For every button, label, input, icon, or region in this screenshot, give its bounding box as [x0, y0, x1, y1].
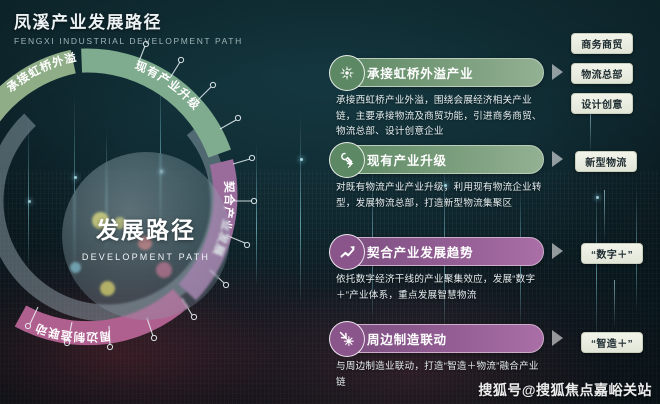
tag-label: 商务商贸: [581, 36, 623, 51]
center-title: 发展路径: [96, 211, 196, 245]
card-item[interactable]: 承接虹桥外溢产业 承接西虹桥产业外溢，围绕会展经济相关产业链，主要承接物流及商贸…: [332, 58, 544, 140]
infographic-canvas: 凤溪产业发展路径 FENGXI INDUSTRIAL DEVELOPMENT P…: [0, 0, 660, 404]
card-expand-arrow[interactable]: [552, 243, 563, 259]
card-description: 对既有物流产业产业升级，利用现有物流企业转型，发展物流总部，打造新型物流集聚区: [336, 180, 542, 211]
card-title-text: 契合产业发展趋势: [367, 242, 473, 261]
inbound-arrow-icon: [329, 321, 365, 357]
tag-chip[interactable]: 新型物流: [575, 151, 637, 172]
card-title-pill[interactable]: 现有产业升级: [332, 145, 544, 174]
page-title: 凤溪产业发展路径: [14, 8, 243, 33]
tag-label: 设计创意: [581, 96, 623, 111]
tag-label: “智造＋”: [591, 335, 633, 350]
card-item[interactable]: 现有产业升级 对既有物流产业产业升级，利用现有物流企业转型，发展物流总部，打造新…: [332, 145, 544, 211]
card-item[interactable]: 契合产业发展趋势 依托数字经济干线的产业聚集效应，发展“数字＋”产业体系，重点发…: [332, 237, 544, 303]
card-expand-arrow[interactable]: [552, 151, 563, 167]
card-title-pill[interactable]: 契合产业发展趋势: [332, 237, 544, 266]
tag-chip[interactable]: “数字＋”: [581, 243, 643, 264]
tag-chip[interactable]: 物流总部: [571, 63, 633, 84]
card-title-pill[interactable]: 周边制造联动: [332, 324, 544, 353]
card-description: 依托数字经济干线的产业聚集效应，发展“数字＋”产业体系，重点发展智慧物流: [336, 272, 542, 303]
tag-chip[interactable]: 商务商贸: [571, 33, 633, 54]
card-title-text: 现有产业升级: [367, 150, 447, 169]
card-title-text: 周边制造联动: [367, 329, 447, 348]
tag-label: “数字＋”: [591, 246, 633, 261]
card-expand-arrow[interactable]: [552, 330, 563, 346]
center-subtitle: DEVELOPMENT PATH: [82, 252, 210, 262]
card-title-text: 承接虹桥外溢产业: [367, 63, 473, 82]
burst-icon: [329, 55, 365, 91]
tag-label: 物流总部: [581, 66, 623, 81]
tag-chip[interactable]: “智造＋”: [581, 332, 643, 353]
wrench-icon: [329, 142, 365, 178]
ring-label-2: 现有产业升级: [133, 59, 203, 113]
card-expand-arrow[interactable]: [552, 64, 563, 80]
tag-stem: [604, 190, 605, 240]
card-title-pill[interactable]: 承接虹桥外溢产业: [332, 58, 544, 87]
card-description: 承接西虹桥产业外溢，围绕会展经济相关产业链，主要承接物流及商贸功能，引进商务商贸…: [336, 93, 542, 140]
watermark: 搜狐号@搜狐焦点嘉峪关站: [478, 380, 652, 400]
tag-stem: [614, 280, 615, 328]
center-badge: 发展路径 DEVELOPMENT PATH: [62, 152, 230, 320]
trend-up-icon: [329, 234, 365, 270]
tag-stem: [590, 110, 591, 152]
tag-chip[interactable]: 设计创意: [571, 93, 633, 114]
tag-label: 新型物流: [585, 154, 627, 169]
